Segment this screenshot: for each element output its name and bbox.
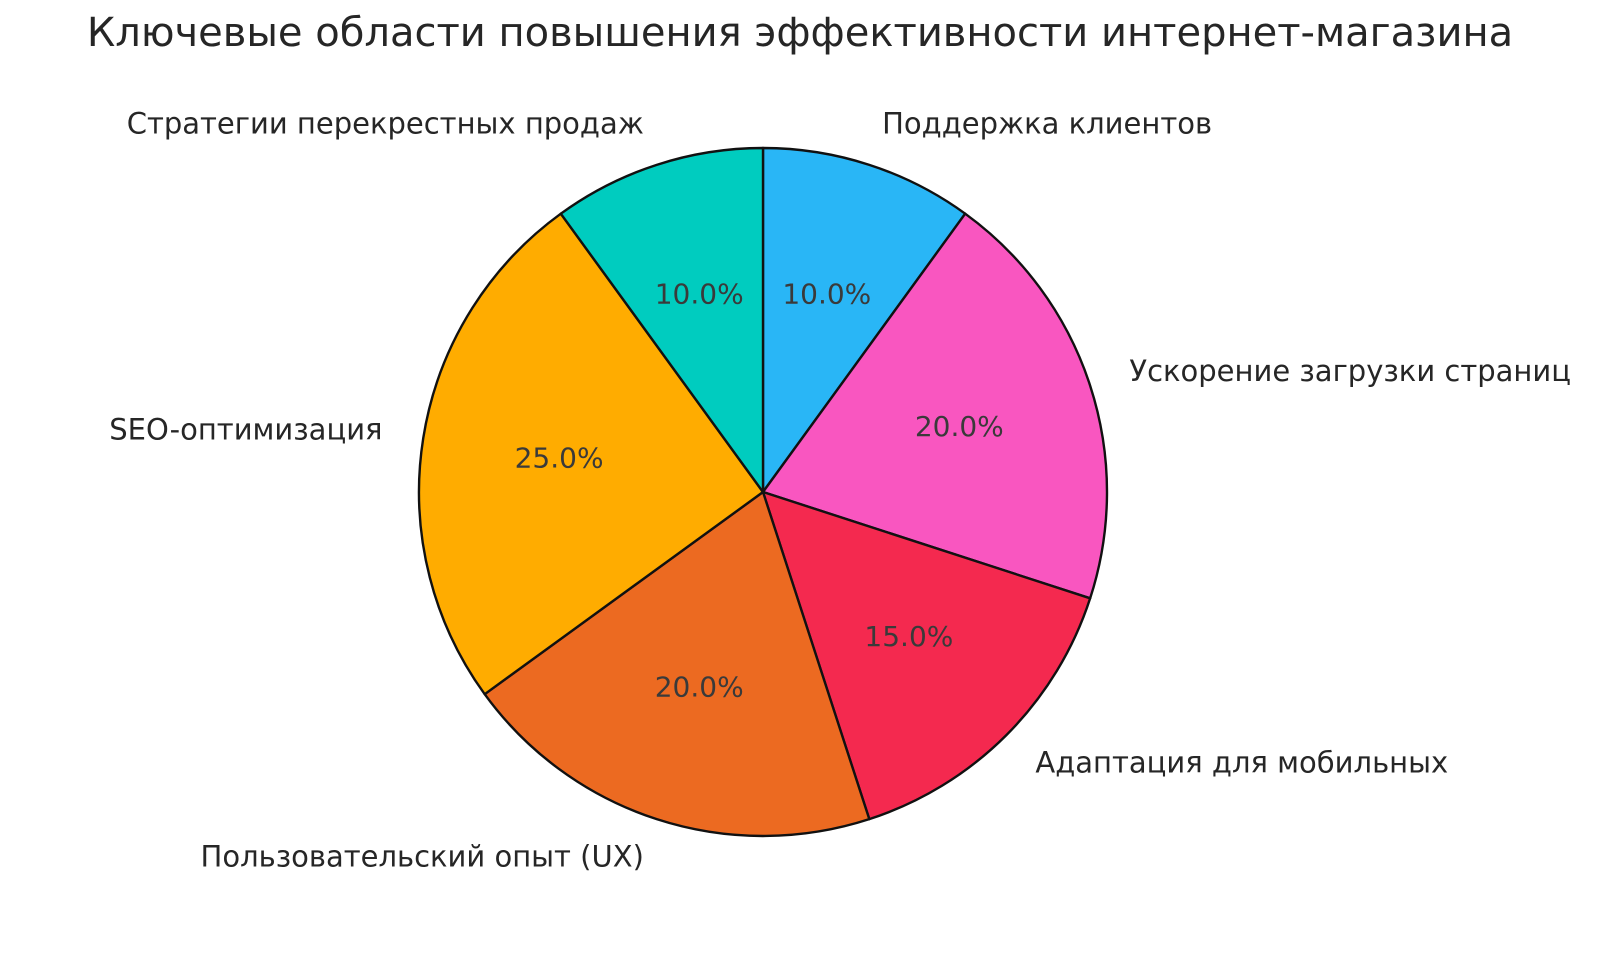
pie-chart-canvas: 10.0%20.0%15.0%20.0%25.0%10.0% Поддержка… <box>0 0 1600 954</box>
pie-slice-percent-label: 10.0% <box>782 278 871 311</box>
pie-slice-percent-label: 25.0% <box>515 442 604 475</box>
pie-slice-category-label: SEO-оптимизация <box>109 413 382 447</box>
pie-slice-percent-label: 10.0% <box>655 278 744 311</box>
pie-chart-figure: Ключевые области повышения эффективности… <box>0 0 1600 954</box>
pie-slice-category-label: Ускорение загрузки страниц <box>1129 354 1571 388</box>
pie-slice-percent-label: 20.0% <box>915 410 1004 443</box>
pie-slice-percent-label: 15.0% <box>864 620 953 653</box>
pie-slice-percent-label: 20.0% <box>655 670 744 703</box>
pie-slice-category-label: Пользовательский опыт (UX) <box>201 839 644 873</box>
pie-slice-category-label: Стратегии перекрестных продаж <box>127 107 644 141</box>
pie-slice-category-label: Поддержка клиентов <box>882 107 1212 141</box>
pie-slices-group <box>419 148 1107 836</box>
pie-slice-category-label: Адаптация для мобильных <box>1035 745 1448 779</box>
